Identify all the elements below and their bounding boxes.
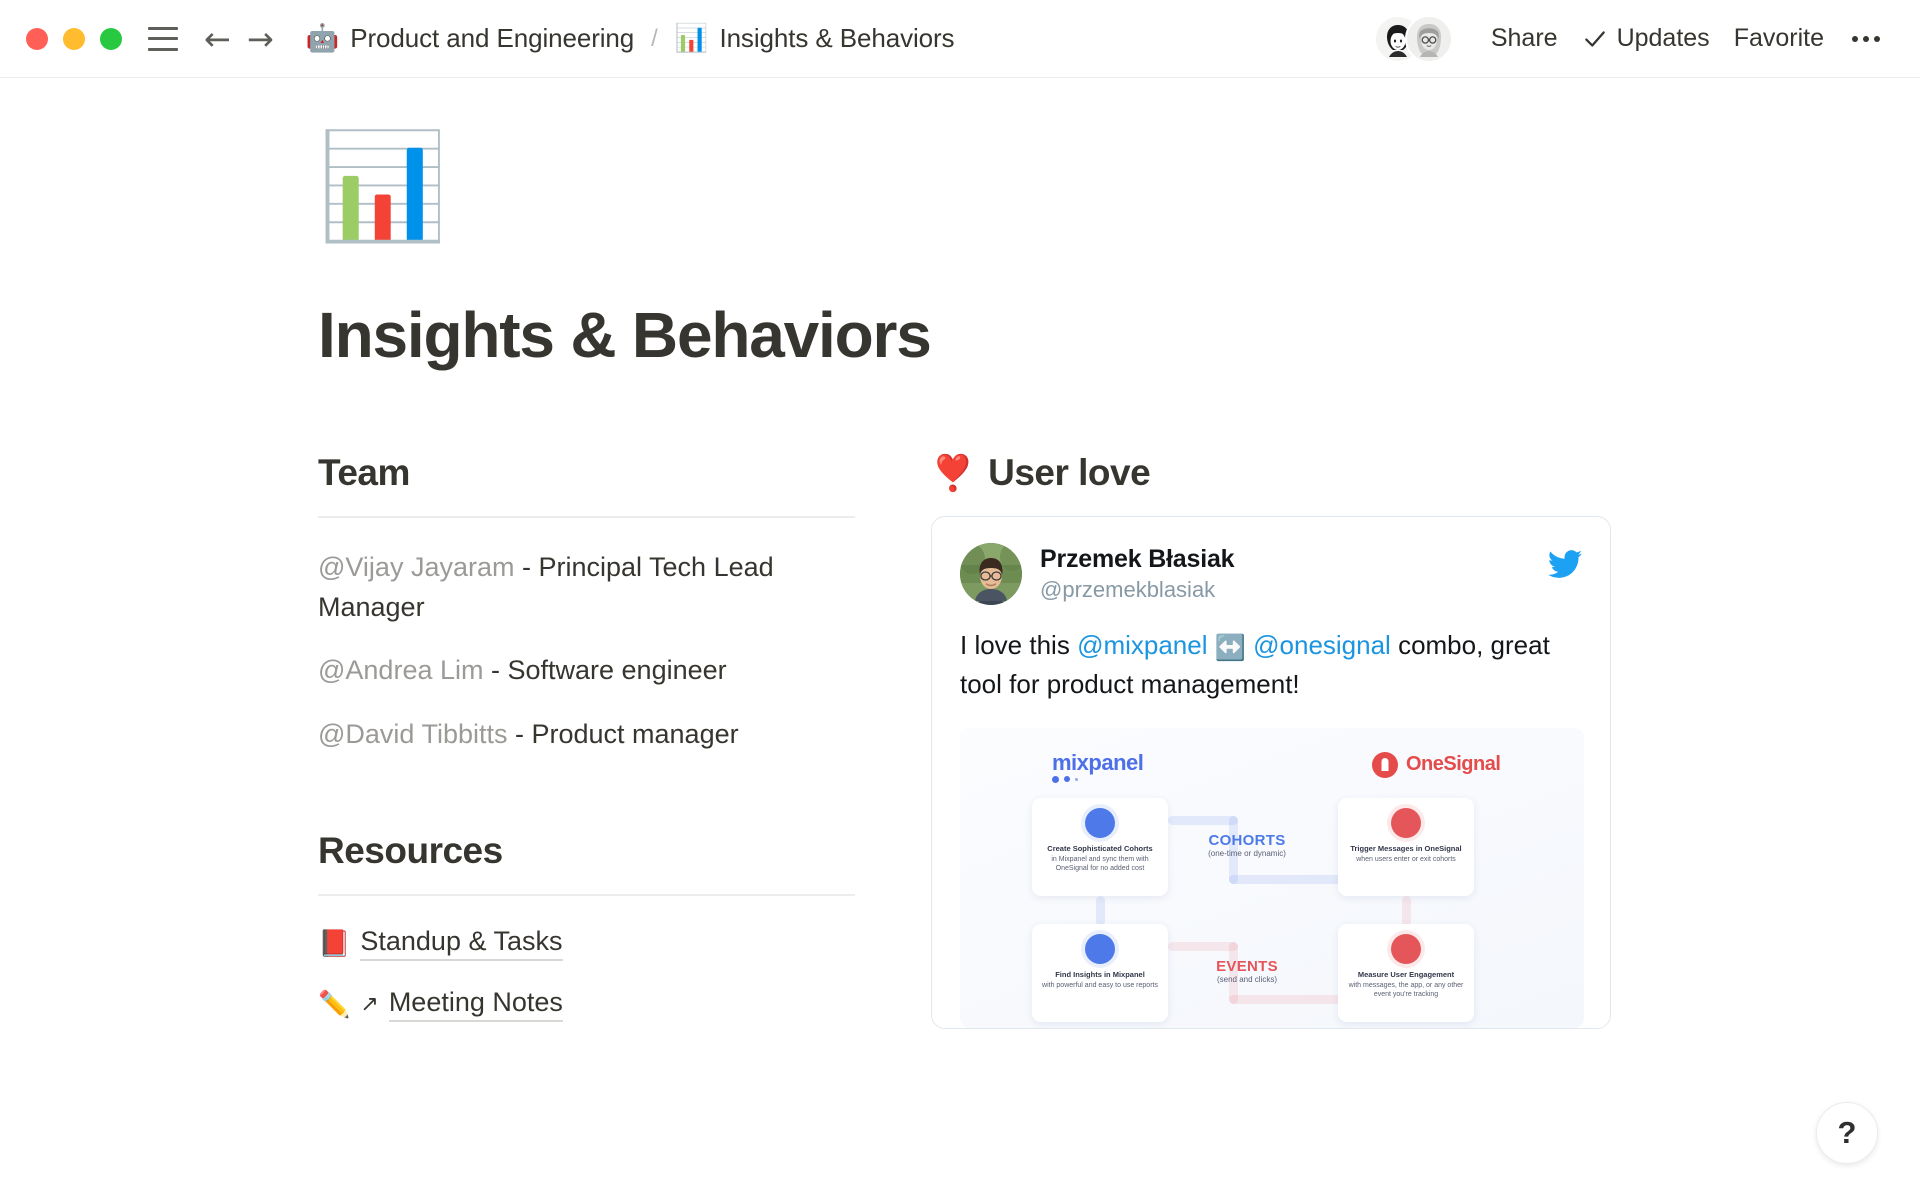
team-member-row: @David Tibbitts - Product manager: [318, 715, 855, 754]
infographic-card-title: Create Sophisticated Cohorts: [1047, 844, 1152, 853]
team-heading-label: Team: [318, 452, 410, 494]
resource-item[interactable]: ✏️ ↗ Meeting Notes: [318, 987, 855, 1022]
favorite-label: Favorite: [1734, 24, 1824, 53]
page-content: 📊 Insights & Behaviors Team @Vijay Jayar…: [110, 134, 1810, 1048]
pencil-icon: ✏️: [318, 990, 350, 1020]
infographic-card-body: in Mixpanel and sync them with OneSignal…: [1032, 853, 1168, 873]
team-member-mention[interactable]: @Vijay Jayaram: [318, 552, 514, 582]
resources-heading-label: Resources: [318, 830, 503, 872]
infographic-card: Find Insights in Mixpanel with powerful …: [1032, 924, 1168, 1022]
mixpanel-logo-dots: [1052, 776, 1078, 783]
user-love-heading-label: User love: [988, 452, 1150, 494]
team-member-separator: -: [483, 655, 507, 685]
breadcrumb-separator: /: [642, 25, 667, 53]
infographic-card: Create Sophisticated Cohorts in Mixpanel…: [1032, 798, 1168, 896]
user-love-heading: ❣️ User love: [931, 452, 1611, 494]
window-maximize-button[interactable]: [100, 28, 122, 50]
flow-label-events: EVENTS (send and clicks): [1182, 958, 1312, 984]
page-body: 📊 Insights & Behaviors Team @Vijay Jayar…: [0, 78, 1920, 1200]
page-title: Insights & Behaviors: [318, 300, 1770, 370]
share-label: Share: [1491, 24, 1558, 53]
tweet-text: I love this @mixpanel ↔️ @onesignal comb…: [960, 627, 1582, 703]
robot-icon: 🤖: [306, 25, 340, 52]
connector-path: [1229, 875, 1341, 884]
check-icon: [1582, 26, 1608, 52]
onesignal-logo-label: OneSignal: [1406, 753, 1500, 776]
trend-line-icon: [1391, 934, 1421, 964]
twitter-bird-icon[interactable]: [1548, 543, 1582, 586]
external-link-arrow-icon: ↗: [360, 992, 378, 1017]
breadcrumb-current-label: Insights & Behaviors: [719, 23, 954, 54]
breadcrumb-item-current[interactable]: 📊 Insights & Behaviors: [667, 19, 963, 58]
closed-book-icon: 📕: [318, 929, 350, 959]
resources-heading: Resources: [318, 830, 855, 872]
tweet-author-avatar: [960, 543, 1022, 605]
flow-label-cohorts-title: COHORTS: [1182, 832, 1312, 849]
tweet-author-block: Przemek Błasiak @przemekblasiak: [1040, 543, 1234, 604]
bar-chart-icon: [1085, 934, 1115, 964]
team-heading: Team: [318, 452, 855, 494]
help-button[interactable]: ?: [1816, 1102, 1878, 1164]
breadcrumb-item-parent[interactable]: 🤖 Product and Engineering: [298, 19, 643, 58]
tweet-media-image[interactable]: mixpanel OneSignal: [960, 728, 1584, 1028]
infographic-card-title: Find Insights in Mixpanel: [1055, 970, 1145, 979]
team-member-role: Software engineer: [507, 655, 726, 685]
infographic-card: Measure User Engagement with messages, t…: [1338, 924, 1474, 1022]
heart-exclamation-icon: ❣️: [931, 453, 974, 494]
flow-label-events-subtitle: (send and clicks): [1182, 975, 1312, 984]
page-icon-bar-chart[interactable]: 📊: [318, 134, 448, 238]
navigation-arrows: ← →: [204, 23, 274, 55]
tweet-header: Przemek Błasiak @przemekblasiak: [960, 543, 1582, 605]
resources-divider: [318, 894, 855, 896]
avatar-2[interactable]: [1405, 15, 1453, 63]
tweet-mention-onesignal[interactable]: @onesignal: [1253, 630, 1391, 660]
more-options-icon[interactable]: [1840, 26, 1892, 52]
connector-path: [1168, 816, 1238, 825]
back-arrow-icon[interactable]: ←: [204, 23, 231, 55]
tweet-author-handle: @przemekblasiak: [1040, 576, 1234, 605]
resource-item[interactable]: 📕 Standup & Tasks: [318, 926, 855, 961]
left-right-arrow-icon: ↔️: [1215, 633, 1246, 662]
resource-link-label[interactable]: Standup & Tasks: [360, 926, 562, 961]
onesignal-logo: OneSignal: [1372, 752, 1500, 778]
flow-label-cohorts: COHORTS (one-time or dynamic): [1182, 832, 1312, 858]
tweet-author-name: Przemek Błasiak: [1040, 544, 1234, 575]
tweet-text-part: I love this: [960, 630, 1077, 660]
window-minimize-button[interactable]: [63, 28, 85, 50]
infographic-card-body: with powerful and easy to use reports: [1034, 979, 1166, 990]
team-member-role: Product manager: [531, 719, 738, 749]
team-member-row: @Vijay Jayaram - Principal Tech Lead Man…: [318, 548, 855, 627]
connector-path: [1096, 896, 1105, 926]
team-member-mention[interactable]: @David Tibbitts: [318, 719, 507, 749]
topbar-actions: Share Updates Favorite: [1374, 15, 1892, 63]
infographic-card-title: Trigger Messages in OneSignal: [1350, 844, 1461, 853]
resource-link-label[interactable]: Meeting Notes: [389, 987, 563, 1022]
connector-path: [1168, 942, 1238, 951]
column-left: Team @Vijay Jayaram - Principal Tech Lea…: [318, 452, 855, 1048]
infographic-card: Trigger Messages in OneSignal when users…: [1338, 798, 1474, 896]
onesignal-mark-icon: [1372, 752, 1398, 778]
connector-path: [1229, 995, 1341, 1004]
breadcrumb: 🤖 Product and Engineering / 📊 Insights &…: [298, 19, 963, 58]
team-member-row: @Andrea Lim - Software engineer: [318, 651, 855, 690]
infographic-card-body: with messages, the app, or any other eve…: [1338, 979, 1474, 999]
team-member-separator: -: [514, 552, 538, 582]
document-icon: [1085, 808, 1115, 838]
updates-button[interactable]: Updates: [1570, 18, 1722, 59]
team-member-separator: -: [507, 719, 531, 749]
two-column-layout: Team @Vijay Jayaram - Principal Tech Lea…: [318, 452, 1770, 1048]
collaborator-avatars[interactable]: [1374, 15, 1453, 63]
flow-label-events-title: EVENTS: [1182, 958, 1312, 975]
traffic-lights: [26, 28, 122, 50]
infographic-card-title: Measure User Engagement: [1358, 970, 1454, 979]
connector-path: [1402, 896, 1411, 926]
share-button[interactable]: Share: [1479, 18, 1570, 59]
tweet-mention-mixpanel[interactable]: @mixpanel: [1077, 630, 1207, 660]
team-divider: [318, 516, 855, 518]
mixpanel-logo: mixpanel: [1052, 750, 1143, 776]
bar-chart-icon: 📊: [675, 25, 709, 52]
flow-label-cohorts-subtitle: (one-time or dynamic): [1182, 849, 1312, 858]
tweet-text-space: [1208, 630, 1215, 660]
team-member-mention[interactable]: @Andrea Lim: [318, 655, 483, 685]
infographic-card-body: when users enter or exit cohorts: [1348, 853, 1464, 864]
column-right: ❣️ User love: [931, 452, 1611, 1028]
tweet-embed-card[interactable]: Przemek Błasiak @przemekblasiak I love t…: [931, 516, 1611, 1028]
infographic: mixpanel OneSignal: [960, 728, 1584, 1028]
sidebar-toggle-icon[interactable]: [148, 27, 178, 51]
forward-arrow-icon[interactable]: →: [247, 23, 274, 55]
favorite-button[interactable]: Favorite: [1722, 18, 1836, 59]
window-titlebar: ← → 🤖 Product and Engineering / 📊 Insigh…: [0, 0, 1920, 78]
window-close-button[interactable]: [26, 28, 48, 50]
breadcrumb-parent-label: Product and Engineering: [350, 23, 634, 54]
bell-icon: [1391, 808, 1421, 838]
updates-label: Updates: [1617, 24, 1710, 53]
